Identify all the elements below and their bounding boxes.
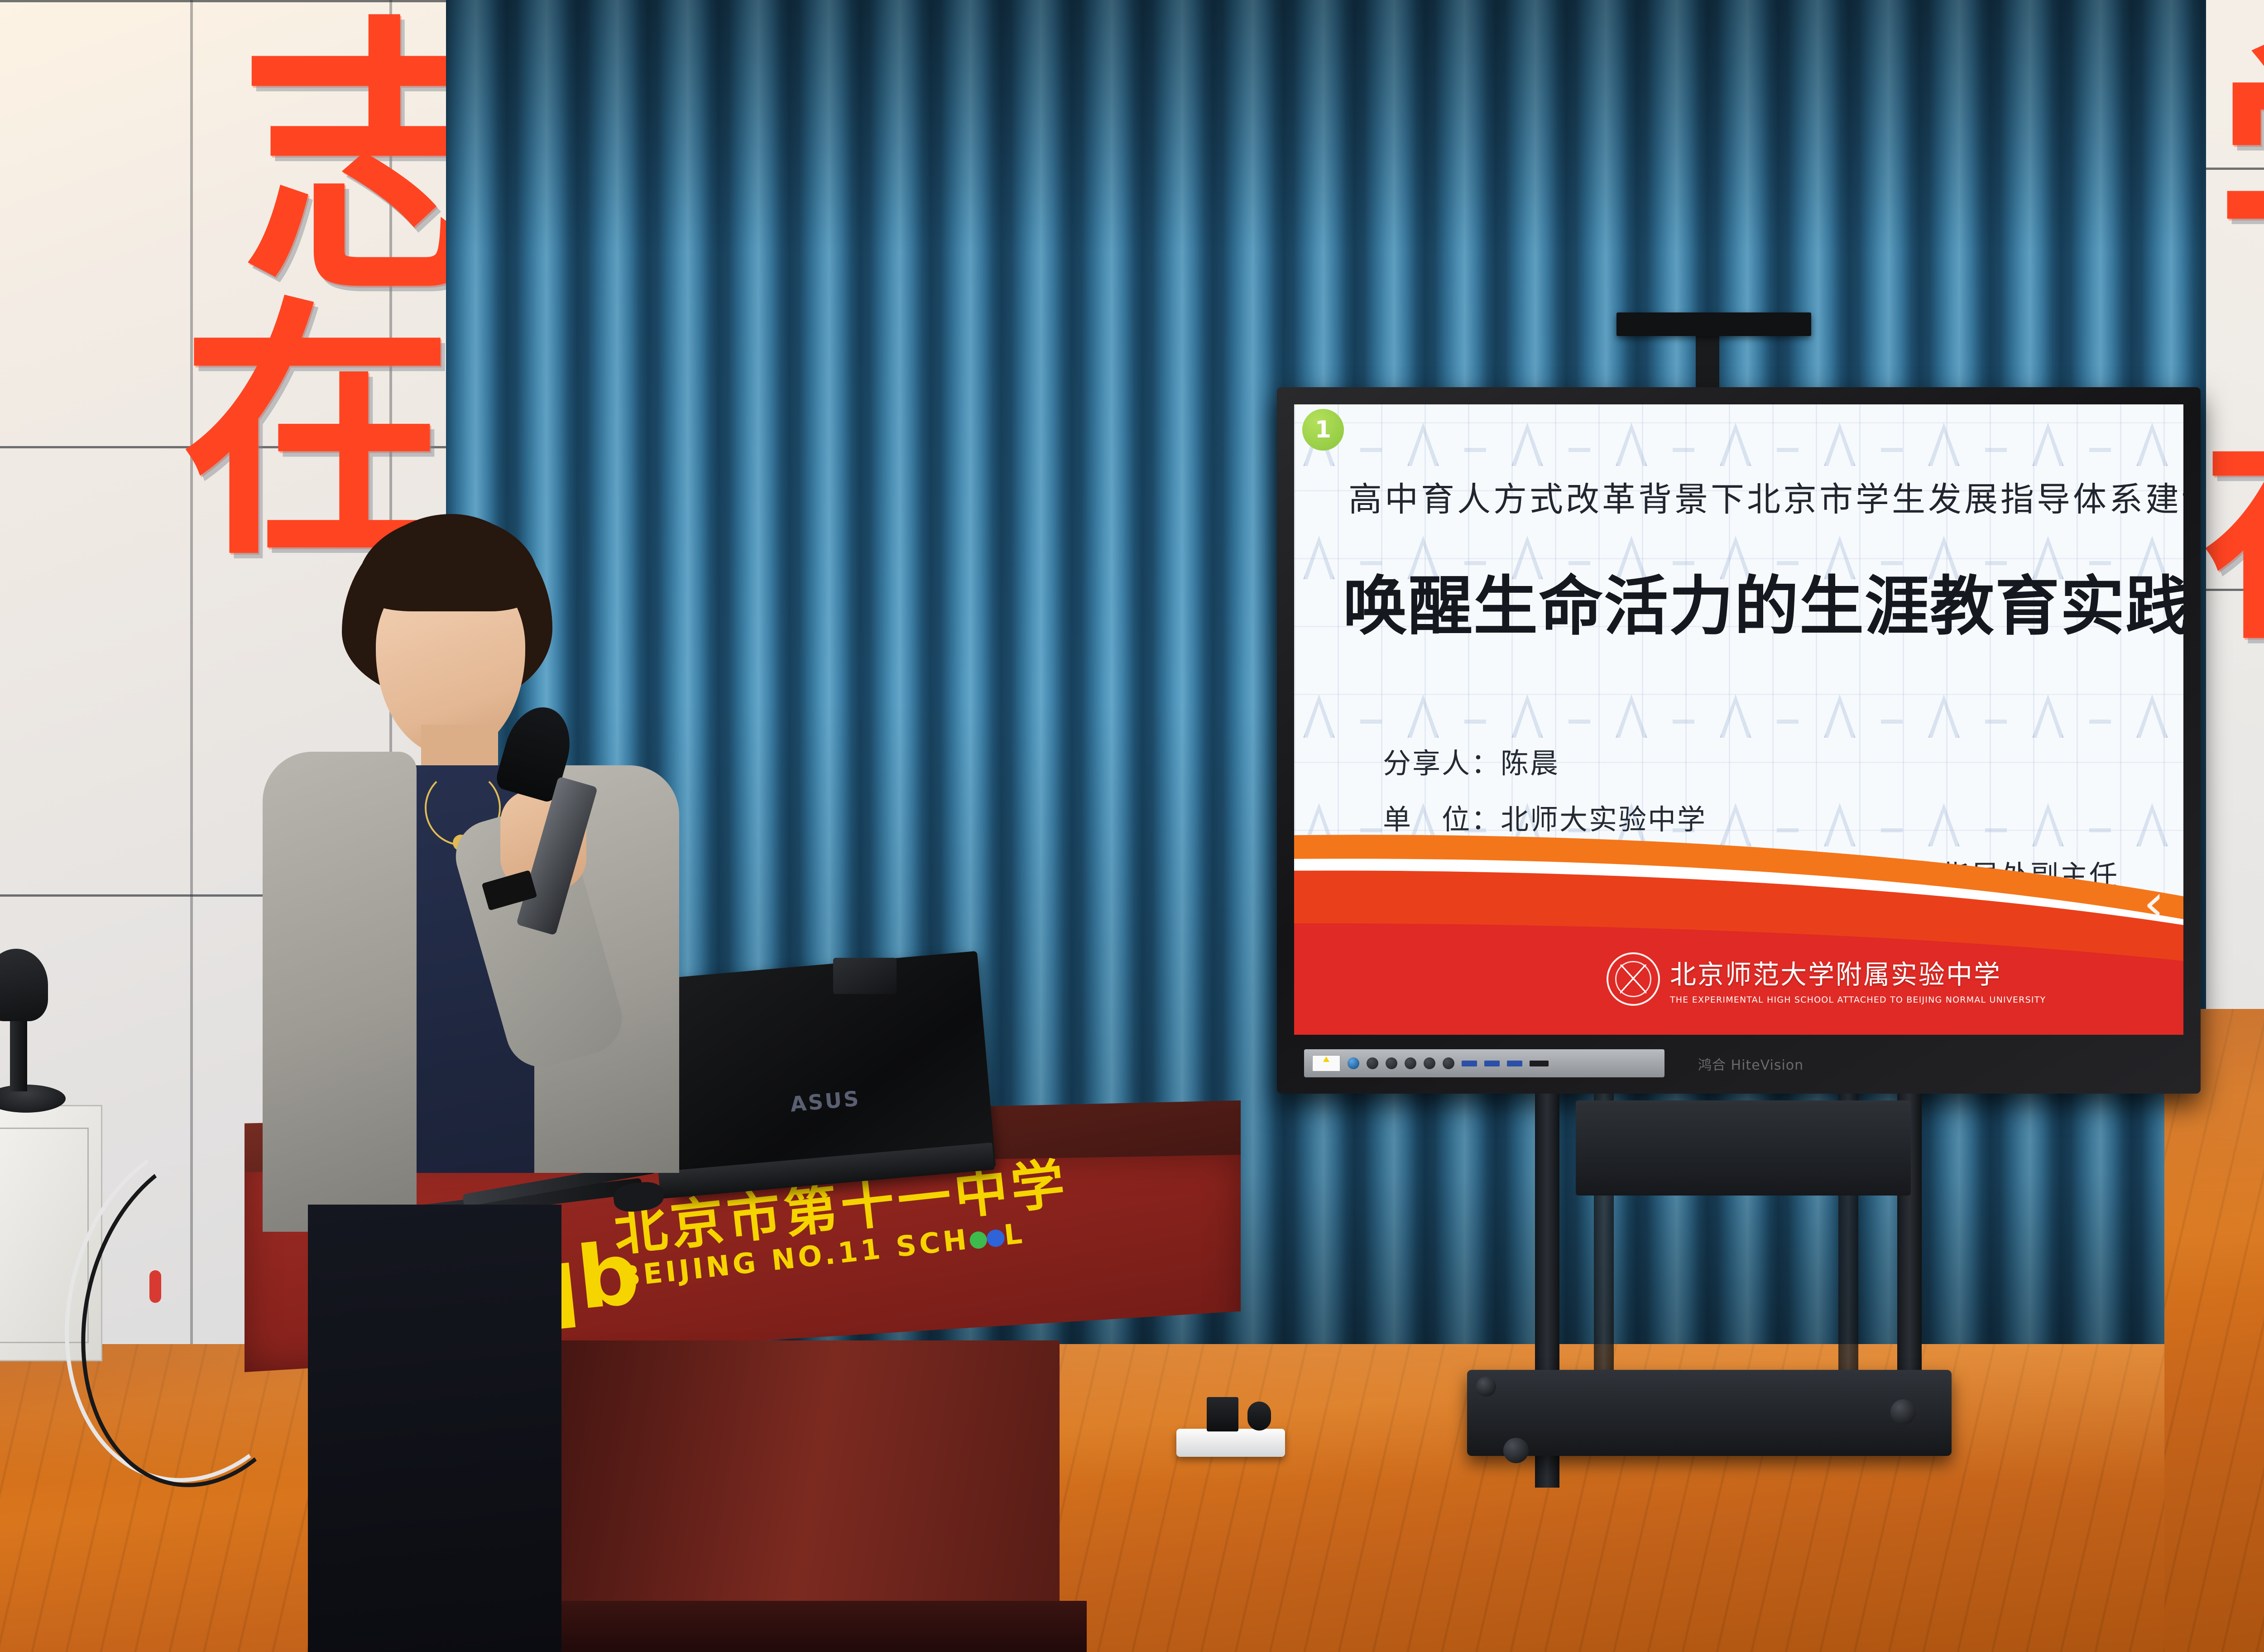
meta-value-presenter: 陈晨 — [1501, 747, 1559, 780]
slide-title: 唤醒生命活力的生涯教育实践与研究 — [1343, 554, 2183, 647]
school-crest-icon — [1607, 952, 1660, 1006]
display-brand-label: 鸿合 HiteVision — [1698, 1054, 1804, 1074]
slide-school-logo: 北京师范大学附属实验中学 THE EXPERIMENTAL HIGH SCHOO… — [1607, 952, 2046, 1006]
meta-label-organization: 单 位： — [1383, 803, 1501, 836]
display-camera-bar — [1616, 312, 1811, 336]
lectern-dot-green-icon — [969, 1230, 988, 1249]
speaker-blazer-left — [263, 752, 417, 1232]
power-plug-2 — [1247, 1402, 1271, 1431]
mic-stand-pole — [10, 1014, 27, 1091]
rca-connector — [149, 1270, 161, 1303]
menu-button[interactable] — [1386, 1057, 1397, 1069]
meta-label-presenter: 分享人： — [1383, 747, 1501, 780]
lectern-name-en-suffix: L — [1002, 1216, 1027, 1252]
slide-meta-organization: 单 位：北师大实验中学 — [1383, 797, 1707, 837]
school-logo-en: THE EXPERIMENTAL HIGH SCHOOL ATTACHED TO… — [1670, 995, 2046, 1005]
lectern-dot-blue-icon — [986, 1229, 1005, 1248]
source-button[interactable] — [1367, 1057, 1378, 1069]
back-button[interactable] — [1443, 1057, 1454, 1069]
meta-value-organization: 北师大实验中学 — [1501, 803, 1707, 836]
interactive-flat-panel[interactable]: 1 高中育人方式改革背景下北京市学生发展指导体系建设研讨会 唤醒生命活力的生涯教… — [1277, 387, 2201, 1094]
warning-label-icon — [1312, 1055, 1340, 1071]
slide-prev-chevron-icon[interactable]: ‹ — [2144, 877, 2164, 930]
wall-char-xue: 学 — [2215, 50, 2264, 300]
display-control-strip[interactable] — [1304, 1049, 1664, 1077]
usb-port-2[interactable] — [1484, 1061, 1500, 1066]
display-screen[interactable]: 1 高中育人方式改革背景下北京市学生发展指导体系建设研讨会 唤醒生命活力的生涯教… — [1294, 404, 2183, 1035]
cart-shelf — [1576, 1100, 1911, 1196]
slide-meta-presenter: 分享人：陈晨 — [1383, 740, 1559, 781]
hdmi-port[interactable] — [1530, 1061, 1549, 1066]
volume-up-button[interactable] — [1424, 1057, 1435, 1069]
power-button[interactable] — [1348, 1057, 1359, 1069]
volume-down-button[interactable] — [1405, 1057, 1416, 1069]
presentation-scene: 志 在 学 在 — [0, 0, 2264, 1652]
school-logo-cn: 北京师范大学附属实验中学 — [1670, 953, 2046, 991]
slide-header-text: 高中育人方式改革背景下北京市学生发展指导体系建设研讨会 — [1348, 472, 2183, 521]
usb-port-1[interactable] — [1462, 1061, 1477, 1066]
cart-base — [1467, 1370, 1952, 1456]
speaker-lower-body — [308, 1205, 561, 1652]
wood-floor-right — [2164, 1009, 2264, 1652]
slide-step-badge: 1 — [1302, 409, 1344, 451]
wall-char-zai-left: 在 — [181, 308, 453, 558]
wall-char-zai-right: 在 — [2202, 426, 2264, 642]
cart-caster-front-right — [1890, 1399, 1916, 1425]
cart-caster-back-left — [1476, 1377, 1496, 1397]
usb-port-3[interactable] — [1507, 1061, 1522, 1066]
podium-speaker-box — [833, 958, 897, 994]
cart-caster-front-left — [1503, 1438, 1529, 1463]
